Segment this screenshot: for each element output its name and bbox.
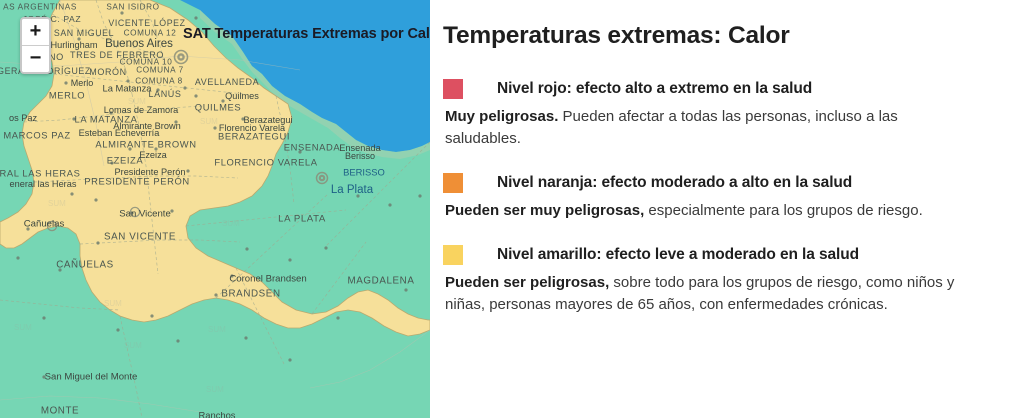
alert-level-header: Nivel naranja: efecto moderado a alto en… [443,173,1002,193]
alert-level-description-emphasis: Muy peligrosas. [445,108,558,125]
alert-level-description-rest: especialmente para los grupos de riesgo. [644,202,923,219]
alert-level-description-emphasis: Pueden ser peligrosas, [445,274,609,291]
map-canvas[interactable]: SUM SUM SUM SUM SUM SUM SUM SUM SUM [0,0,430,418]
alert-level-heading: Nivel amarillo: efecto leve a moderado e… [497,246,859,264]
alert-level-heading: Nivel rojo: efecto alto a extremo en la … [497,80,812,98]
zoom-out-button[interactable]: − [22,46,49,72]
zoom-in-button[interactable]: + [22,19,49,46]
color-swatch-icon [443,245,463,265]
alert-level-item: Nivel naranja: efecto moderado a alto en… [443,173,1002,222]
alert-level-heading: Nivel naranja: efecto moderado a alto en… [497,174,852,192]
svg-text:SUM: SUM [14,323,32,332]
alert-level-item: Nivel rojo: efecto alto a extremo en la … [443,79,1002,150]
svg-text:SUM: SUM [48,199,66,208]
map-zoom-control[interactable]: + − [20,17,51,74]
svg-text:SUM: SUM [124,341,142,350]
map-pane[interactable]: SUM SUM SUM SUM SUM SUM SUM SUM SUM AS A… [0,0,430,418]
svg-text:SUM: SUM [200,117,218,126]
level-spacer [443,150,1002,173]
alert-level-description: Muy peligrosas. Pueden afectar a todas l… [445,106,957,150]
alert-level-header: Nivel amarillo: efecto leve a moderado e… [443,245,1002,265]
alert-level-description: Pueden ser peligrosas, sobre todo para l… [445,272,957,316]
page-root: SUM SUM SUM SUM SUM SUM SUM SUM SUM AS A… [0,0,1024,418]
svg-text:SUM: SUM [222,219,240,228]
alert-level-description-emphasis: Pueden ser muy peligrosas, [445,202,644,219]
level-spacer [443,222,1002,245]
page-title: Temperaturas extremas: Calor [443,22,1002,50]
alert-level-item: Nivel amarillo: efecto leve a moderado e… [443,245,1002,316]
color-swatch-icon [443,173,463,193]
svg-text:SUM: SUM [208,325,226,334]
map-title: SAT Temperaturas Extremas por Calor [183,26,430,42]
alert-level-list: Nivel rojo: efecto alto a extremo en la … [443,79,1002,316]
alert-level-header: Nivel rojo: efecto alto a extremo en la … [443,79,1002,99]
svg-text:SUM: SUM [104,299,122,308]
svg-text:SUM: SUM [206,385,224,394]
info-pane: Temperaturas extremas: Calor Nivel rojo:… [430,0,1024,418]
alert-level-description: Pueden ser muy peligrosas, especialmente… [445,200,957,222]
svg-text:SUM: SUM [128,97,146,106]
color-swatch-icon [443,79,463,99]
